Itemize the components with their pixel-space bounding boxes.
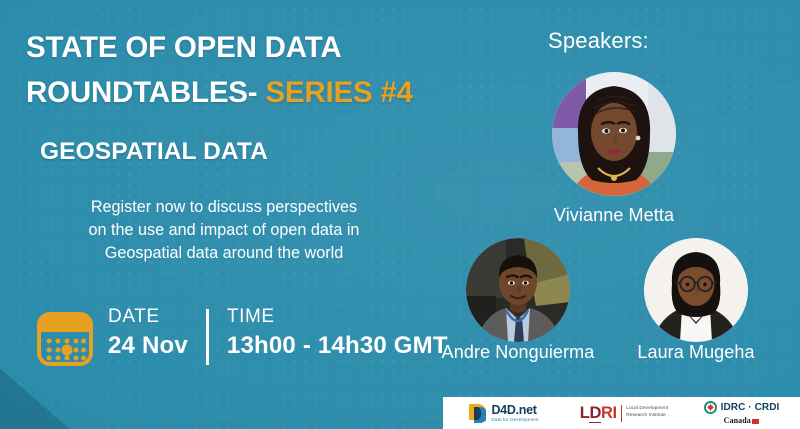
canada-wordmark-text: Canada: [724, 417, 751, 425]
calendar-icon: [36, 310, 94, 368]
headline-line-1: STATE OF OPEN DATA: [26, 31, 341, 64]
avatar: [644, 238, 748, 342]
page-title: STATE OF OPEN DATA ROUNDTABLES- SERIES #…: [26, 26, 456, 116]
time-value: 13h00 - 14h30 GMT: [227, 331, 448, 361]
ldri-divider-rule: [621, 405, 623, 422]
avatar: [466, 238, 570, 342]
idrc-logo-name: IDRC · CRDI: [721, 403, 780, 413]
headline-line-2-main: ROUNDTABLES-: [26, 76, 265, 109]
speaker-name: Laura Mugeha: [616, 342, 776, 363]
subtitle-topic: GEOSPATIAL DATA: [40, 138, 268, 166]
date-label: DATE: [108, 305, 188, 329]
speaker-name: Andre Nonguierma: [438, 342, 598, 363]
ldri-fullname-line-1: Local Development: [626, 406, 668, 411]
ldri-letter-d: D: [589, 404, 601, 424]
canada-wordmark: Canada: [724, 417, 760, 425]
logo-idrc: IDRC · CRDI Canada: [683, 397, 800, 429]
idrc-maple-leaf-icon: [704, 401, 717, 414]
footer-logo-bar: D4D.net Data for Development LDRI Local …: [443, 397, 800, 429]
time-label: TIME: [227, 305, 448, 329]
logo-ldri: LDRI Local Development Research Institut…: [565, 397, 683, 429]
left-content-column: STATE OF OPEN DATA ROUNDTABLES- SERIES #…: [0, 0, 470, 429]
d4d-logo-icon: [469, 404, 486, 423]
d4d-logo-name: D4D.net: [491, 404, 538, 417]
date-time-text-group: DATE 24 Nov TIME 13h00 - 14h30 GMT: [108, 305, 448, 365]
description-text: Register now to discuss perspectives on …: [24, 196, 424, 265]
ldri-fullname-line-2: Research Institute: [626, 413, 666, 418]
ldri-logo-fullname: Local Development Research Institute: [626, 406, 668, 420]
vertical-divider: [206, 309, 209, 365]
avatar: [552, 72, 676, 196]
headline-series-accent: SERIES #4: [265, 76, 412, 109]
canada-flag-icon: [752, 419, 759, 424]
poster-canvas: STATE OF OPEN DATA ROUNDTABLES- SERIES #…: [0, 0, 800, 429]
speakers-heading: Speakers:: [548, 28, 649, 54]
speaker-name: Vivianne Metta: [524, 205, 704, 226]
logo-d4d: D4D.net Data for Development: [443, 397, 565, 429]
ldri-logo-acronym: LDRI: [580, 405, 617, 422]
d4d-logo-tagline: Data for Development: [491, 418, 538, 423]
date-value: 24 Nov: [108, 331, 188, 361]
date-time-block: DATE 24 Nov TIME 13h00 - 14h30 GMT: [36, 305, 448, 368]
date-column: DATE 24 Nov: [108, 305, 188, 365]
ldri-letters-ri: RI: [601, 404, 617, 422]
time-column: TIME 13h00 - 14h30 GMT: [227, 305, 448, 365]
headline-line-2: ROUNDTABLES- SERIES #4: [26, 71, 456, 116]
